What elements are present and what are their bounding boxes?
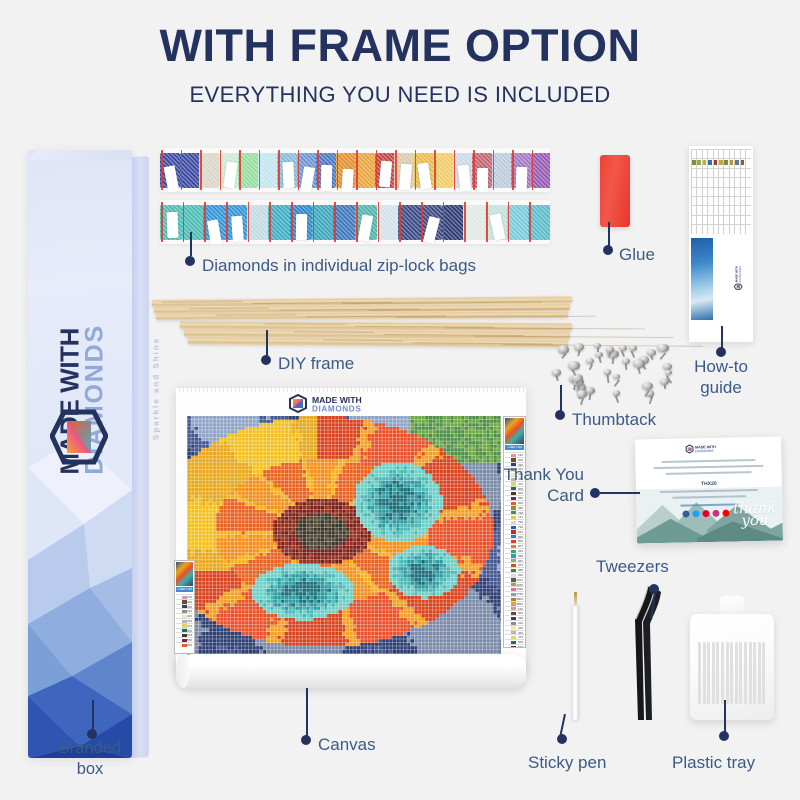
thank-you-card: MADE WITH DIAMONDS THX20 thank you: [635, 436, 783, 543]
diamond-bag: [247, 200, 269, 244]
bag-diamond-grain: [398, 205, 420, 240]
thumbtack-head: [577, 390, 588, 398]
callout-label-thumbtack: Thumbtack: [572, 409, 656, 430]
wood-grain-line: [265, 323, 345, 324]
callout-label-diamonds: Diamonds in individual zip-lock bags: [202, 255, 572, 276]
bag-zip-seal: [443, 202, 445, 242]
wood-grain-line: [384, 334, 524, 336]
diamond-bag: [160, 148, 180, 192]
guide-table-row: [691, 215, 751, 216]
callout-line-diy-frame: [266, 330, 268, 356]
diamond-bag: [507, 200, 529, 244]
diamond-bag: [463, 200, 485, 244]
thumbtack-pin: [614, 379, 620, 386]
bag-diamond-grain: [528, 205, 550, 240]
bag-diamond-grain: [199, 153, 219, 188]
callout-label-diy-frame: DIY frame: [278, 353, 354, 374]
legend-title: Color List: [176, 587, 193, 592]
bag-zip-seal: [161, 202, 163, 242]
thumbtack-pin: [650, 355, 653, 360]
callout-line-diamonds: [190, 232, 192, 256]
bag-zip-seal: [278, 150, 280, 190]
diamond-bag: [453, 148, 473, 192]
diamond-bag: [182, 200, 204, 244]
card-thank-you-script: thank you: [733, 501, 777, 527]
canvas-color-legend-right: Color List152300336414445453472505543550…: [503, 416, 526, 648]
callout-label-branded-box: Branded box: [20, 738, 160, 779]
legend-color-code: 606: [187, 643, 192, 647]
wood-grain-line: [189, 307, 269, 309]
diamond-bag: [312, 200, 334, 244]
bag-diamond-grain: [258, 153, 278, 188]
callout-line-plastic-tray: [724, 700, 726, 732]
wood-grain-line: [294, 331, 374, 333]
thumbtack-pin: [588, 363, 592, 369]
bag-zip-seal: [220, 150, 222, 190]
tray-rib: [703, 642, 706, 704]
bag-zip-seal: [183, 202, 185, 242]
legend-thumbnail: [505, 418, 524, 444]
thumbtack-pin: [598, 357, 601, 363]
guide-table-row: [691, 224, 751, 225]
bag-diamond-grain: [433, 153, 453, 188]
canvas-perforation-top: [176, 388, 526, 392]
diamond-bag: [225, 200, 247, 244]
tray-rib: [712, 642, 715, 704]
guide-color-swatch: [741, 160, 745, 165]
callout-dot-diy-frame: [261, 355, 271, 365]
thumbtack-head: [558, 345, 570, 354]
card-text-line: [654, 465, 764, 469]
guide-table-row: [691, 168, 751, 169]
guide-cover-photo: [691, 238, 713, 320]
thumbtack-pin: [631, 351, 635, 358]
thumbtack-head: [613, 374, 620, 379]
wood-grain-line: [474, 336, 674, 338]
bag-diamond-grain: [463, 205, 485, 240]
bag-label: [231, 216, 244, 243]
callout-label-glue: Glue: [619, 244, 655, 265]
bag-zip-seal: [356, 150, 358, 190]
thumbtack-head: [665, 370, 673, 376]
bag-diamond-grain: [377, 205, 399, 240]
bag-zip-seal: [204, 202, 206, 242]
diamond-bag: [316, 148, 336, 192]
guide-color-swatch: [714, 160, 718, 165]
tray-rib: [744, 642, 747, 704]
thumbtack-head: [629, 345, 637, 351]
diamond-logo-icon: [50, 408, 108, 466]
diamond-bag: [394, 148, 414, 192]
callout-dot-diamonds: [185, 256, 195, 266]
wood-grain-line: [396, 316, 596, 318]
wood-grain-line: [162, 301, 242, 303]
tweezers-shape: [624, 580, 668, 720]
thumbtack-head: [604, 369, 612, 375]
branded-box-top-edge: [28, 150, 132, 160]
twitter-icon: [692, 510, 699, 517]
bag-label: [477, 167, 488, 192]
diamond-bag: [336, 148, 356, 192]
tray-rib: [698, 642, 701, 704]
bag-label: [321, 165, 333, 191]
bag-zip-seal: [317, 150, 319, 190]
glue-bottle: [600, 155, 630, 227]
bag-zip-seal: [415, 150, 417, 190]
guide-color-swatch: [692, 160, 696, 165]
branded-box-side-panel: Sparkle and Shine: [132, 156, 149, 758]
bag-diamond-grain: [268, 205, 290, 240]
canvas-artwork: [187, 416, 501, 661]
wood-grain-line: [323, 339, 403, 341]
callout-line-how-to-guide: [721, 326, 723, 348]
bag-zip-seal: [259, 150, 261, 190]
callout-label-sticky-pen: Sticky pen: [528, 752, 606, 773]
card-message-text-lines: [635, 436, 781, 439]
diamond-bag: [420, 200, 442, 244]
thumbtack-head: [657, 344, 669, 353]
diamond-bag: [258, 148, 278, 192]
artwork-diamond-grid-overlay: [187, 416, 501, 661]
callout-line-thank-you-card: [600, 492, 640, 494]
pen-tip: [574, 592, 578, 606]
bag-zip-seal: [454, 150, 456, 190]
thumbtack-head: [642, 382, 653, 390]
bag-zip-seal: [508, 202, 510, 242]
diamond-bag: [203, 200, 225, 244]
callout-label-canvas: Canvas: [318, 734, 376, 755]
guide-color-swatch: [697, 160, 701, 165]
diamond-bag-row-bottom: [160, 200, 550, 244]
wood-grain-line: [445, 328, 645, 330]
thumbtack-head: [595, 352, 603, 358]
bag-zip-seal: [334, 202, 336, 242]
bag-zip-seal: [181, 150, 183, 190]
callout-line-sticky-pen: [559, 714, 565, 736]
thumbtack-pin: [589, 394, 591, 400]
thumbtack-head: [633, 359, 645, 368]
bag-zip-seal: [313, 202, 315, 242]
diamond-bag: [199, 148, 219, 192]
svg-text:MADE WITH: MADE WITH: [312, 395, 362, 405]
legend-thumbnail: [176, 562, 193, 586]
diamond-bag: [492, 148, 512, 192]
diamond-bag: [377, 200, 399, 244]
canvas-sheet: MADE WITH DIAMONDS Color List15230033641…: [176, 388, 526, 672]
callout-line-glue: [608, 222, 610, 246]
page-subtitle: EVERYTHING YOU NEED IS INCLUDED: [0, 82, 800, 108]
thumbtack-pin: [555, 375, 558, 381]
diamond-bag: [485, 200, 507, 244]
callout-line-thumbtack: [560, 385, 562, 411]
callout-line-branded-box: [92, 700, 94, 730]
canvas-logo-icon: MADE WITH DIAMONDS: [288, 394, 416, 413]
thumbtack-pin: [625, 363, 627, 370]
bag-diamond-grain: [238, 153, 258, 188]
diamond-bag: [333, 200, 355, 244]
card-social-icons: [635, 436, 781, 439]
bag-zip-seal: [486, 202, 488, 242]
diamond-bag: [528, 200, 550, 244]
card-script-line2: you: [741, 511, 769, 530]
bag-zip-seal: [248, 202, 250, 242]
wood-grain-line: [216, 314, 296, 315]
callout-dot-thumbtack: [555, 410, 565, 420]
guide-table-row: [691, 177, 751, 178]
plastic-tray: [690, 596, 774, 720]
bag-zip-seal: [464, 202, 466, 242]
thumbtack-pin: [606, 375, 609, 383]
infographic-stage: WITH FRAME OPTION EVERYTHING YOU NEED IS…: [0, 0, 800, 800]
tray-rib: [753, 642, 756, 704]
svg-text:DIAMONDS: DIAMONDS: [738, 266, 742, 283]
callout-line-canvas: [306, 688, 308, 736]
bag-diamond-grain: [492, 153, 512, 188]
thumbtack-head: [619, 345, 627, 351]
legend-color-code: 543: [518, 645, 523, 648]
diamond-bag: [290, 200, 312, 244]
bag-diamond-grain: [182, 205, 204, 240]
bag-zip-seal: [161, 150, 163, 190]
branded-box: MADE WITH DIAMONDS: [28, 150, 158, 770]
bag-zip-seal: [512, 150, 514, 190]
bag-label: [282, 162, 294, 189]
diamond-bag: [355, 148, 375, 192]
guide-table-row: [691, 196, 751, 197]
bag-zip-seal: [226, 202, 228, 242]
diamond-bag: [511, 148, 531, 192]
bag-diamond-grain: [507, 205, 529, 240]
callout-label-tweezers: Tweezers: [596, 556, 669, 577]
tweezers: [624, 580, 668, 720]
thumbtack-head: [606, 346, 614, 352]
bag-label: [167, 212, 179, 238]
diamond-bag: [398, 200, 420, 244]
diamond-bag: [160, 200, 182, 244]
card-text-line: [661, 459, 755, 462]
thumbtack-pin: [561, 354, 566, 359]
thumbtack-pin: [638, 367, 641, 374]
guide-logo-icon: MADE WITH DIAMONDS: [725, 264, 751, 290]
diamond-bag: [277, 148, 297, 192]
guide-color-swatch: [719, 160, 723, 165]
bag-zip-seal: [532, 150, 534, 190]
diamond-bag: [414, 148, 434, 192]
canvas-rolled-tube: [176, 654, 526, 688]
tray-rib: [730, 642, 733, 704]
thumbtack-pin: [621, 351, 625, 357]
canvas-color-legend-left: Color List152300336414445453472505543550…: [174, 560, 195, 654]
guide-color-chart-table: [691, 149, 751, 234]
bag-zip-seal: [298, 150, 300, 190]
tray-rib: [758, 642, 761, 704]
diamond-bag: [355, 200, 377, 244]
thumbtack-head: [660, 378, 669, 385]
how-to-guide-sheet: MADE WITH DIAMONDS: [689, 146, 753, 342]
thumbtack-pin: [663, 384, 665, 389]
thumbtack-pin: [660, 352, 666, 359]
bag-label: [341, 168, 354, 192]
bag-zip-seal: [473, 150, 475, 190]
tray-rib: [762, 642, 765, 704]
guide-table-column: [745, 149, 746, 234]
diamond-bag: [375, 148, 395, 192]
thumbtack-pin: [580, 397, 584, 404]
callout-label-thank-you-card: Thank You Card: [460, 464, 584, 507]
sticky-pen: [572, 592, 579, 720]
bag-label: [516, 167, 528, 192]
tray-rib: [716, 642, 719, 704]
tray-rib: [735, 642, 738, 704]
card-logo-icon: MADE WITH DIAMONDS: [685, 444, 731, 454]
pinterest-icon: [702, 510, 709, 517]
bag-label: [295, 214, 306, 240]
guide-color-swatch: [724, 160, 728, 165]
bag-zip-seal: [269, 202, 271, 242]
tray-rib: [749, 642, 752, 704]
thumbtack-head: [568, 361, 580, 370]
thumbtack-pile: [548, 342, 688, 404]
diamond-bag: [268, 200, 290, 244]
wood-grain-line: [413, 342, 553, 344]
bag-zip-seal: [434, 150, 436, 190]
callout-label-plastic-tray: Plastic tray: [672, 752, 755, 773]
tray-rib: [721, 642, 724, 704]
thumbtack-pin: [612, 358, 614, 364]
bag-zip-seal: [493, 150, 495, 190]
legend-row: 543: [505, 644, 524, 648]
branded-box-polygon-pattern: [28, 428, 132, 758]
guide-color-swatch: [735, 160, 739, 165]
bag-diamond-grain: [180, 153, 200, 188]
bag-zip-seal: [529, 202, 531, 242]
thumbtack-head: [663, 363, 673, 370]
page-title: WITH FRAME OPTION: [0, 22, 800, 69]
bag-diamond-grain: [247, 205, 269, 240]
bag-zip-seal: [200, 150, 202, 190]
tray-body: [690, 614, 774, 720]
branded-box-face: MADE WITH DIAMONDS: [28, 150, 132, 758]
callout-dot-canvas: [301, 735, 311, 745]
guide-table-row: [691, 205, 751, 206]
diamond-bag: [238, 148, 258, 192]
tray-rib: [726, 642, 729, 704]
tray-rib: [739, 642, 742, 704]
thumbtack-head: [622, 358, 630, 364]
diamond-bag: [180, 148, 200, 192]
callout-dot-sticky-pen: [557, 734, 567, 744]
guide-color-swatch: [703, 160, 707, 165]
pen-body: [572, 604, 579, 720]
wood-grain-line: [355, 325, 495, 327]
bag-zip-seal: [378, 202, 380, 242]
bag-zip-seal: [395, 150, 397, 190]
canvas-product: MADE WITH DIAMONDS Color List15230033641…: [176, 388, 526, 678]
bag-zip-seal: [399, 202, 401, 242]
thumbtack-head: [594, 343, 601, 348]
thumbtack-head: [574, 343, 585, 351]
thumbtack-head: [552, 369, 560, 375]
guide-table-row: [691, 149, 751, 150]
diamond-bag-row-top: [160, 148, 550, 192]
frame-bar: [156, 311, 568, 320]
bag-diamond-grain: [312, 205, 334, 240]
bag-diamond-grain: [442, 205, 464, 240]
thumbtack-pin: [577, 350, 580, 356]
legend-title: Color List: [505, 445, 524, 450]
thumbtack-pin: [648, 396, 652, 404]
bag-zip-seal: [239, 150, 241, 190]
guide-color-swatch: [708, 160, 712, 165]
callout-dot-plastic-tray: [719, 731, 729, 741]
bag-zip-seal: [337, 150, 339, 190]
legend-row: 606: [176, 642, 193, 648]
thumbtack-head: [647, 349, 656, 356]
thumbtack-head: [586, 358, 594, 364]
bag-diamond-grain: [355, 153, 375, 188]
diamond-bag: [442, 200, 464, 244]
guide-color-swatch: [730, 160, 734, 165]
thumbtack-pin: [615, 396, 619, 403]
svg-text:DIAMONDS: DIAMONDS: [695, 449, 714, 453]
svg-text:DIAMONDS: DIAMONDS: [312, 405, 361, 413]
diamond-bag: [433, 148, 453, 192]
tray-rib: [707, 642, 710, 704]
bag-diamond-grain: [333, 205, 355, 240]
bag-zip-seal: [291, 202, 293, 242]
guide-table-row: [691, 187, 751, 188]
diamond-bag: [531, 148, 551, 192]
callout-dot-glue: [603, 245, 613, 255]
bag-diamond-grain: [531, 153, 551, 188]
bag-zip-seal: [421, 202, 423, 242]
diamond-bag: [297, 148, 317, 192]
card-text-line: [666, 471, 752, 474]
diy-frame-bars: [152, 296, 572, 356]
bag-zip-seal: [376, 150, 378, 190]
diamond-bag: [219, 148, 239, 192]
thumbtack-head: [613, 390, 620, 396]
callout-dot-thank-you-card: [590, 488, 600, 498]
callout-dot-tweezers: [649, 584, 659, 594]
diamond-bag: [472, 148, 492, 192]
legend-color-swatch: [511, 646, 516, 649]
